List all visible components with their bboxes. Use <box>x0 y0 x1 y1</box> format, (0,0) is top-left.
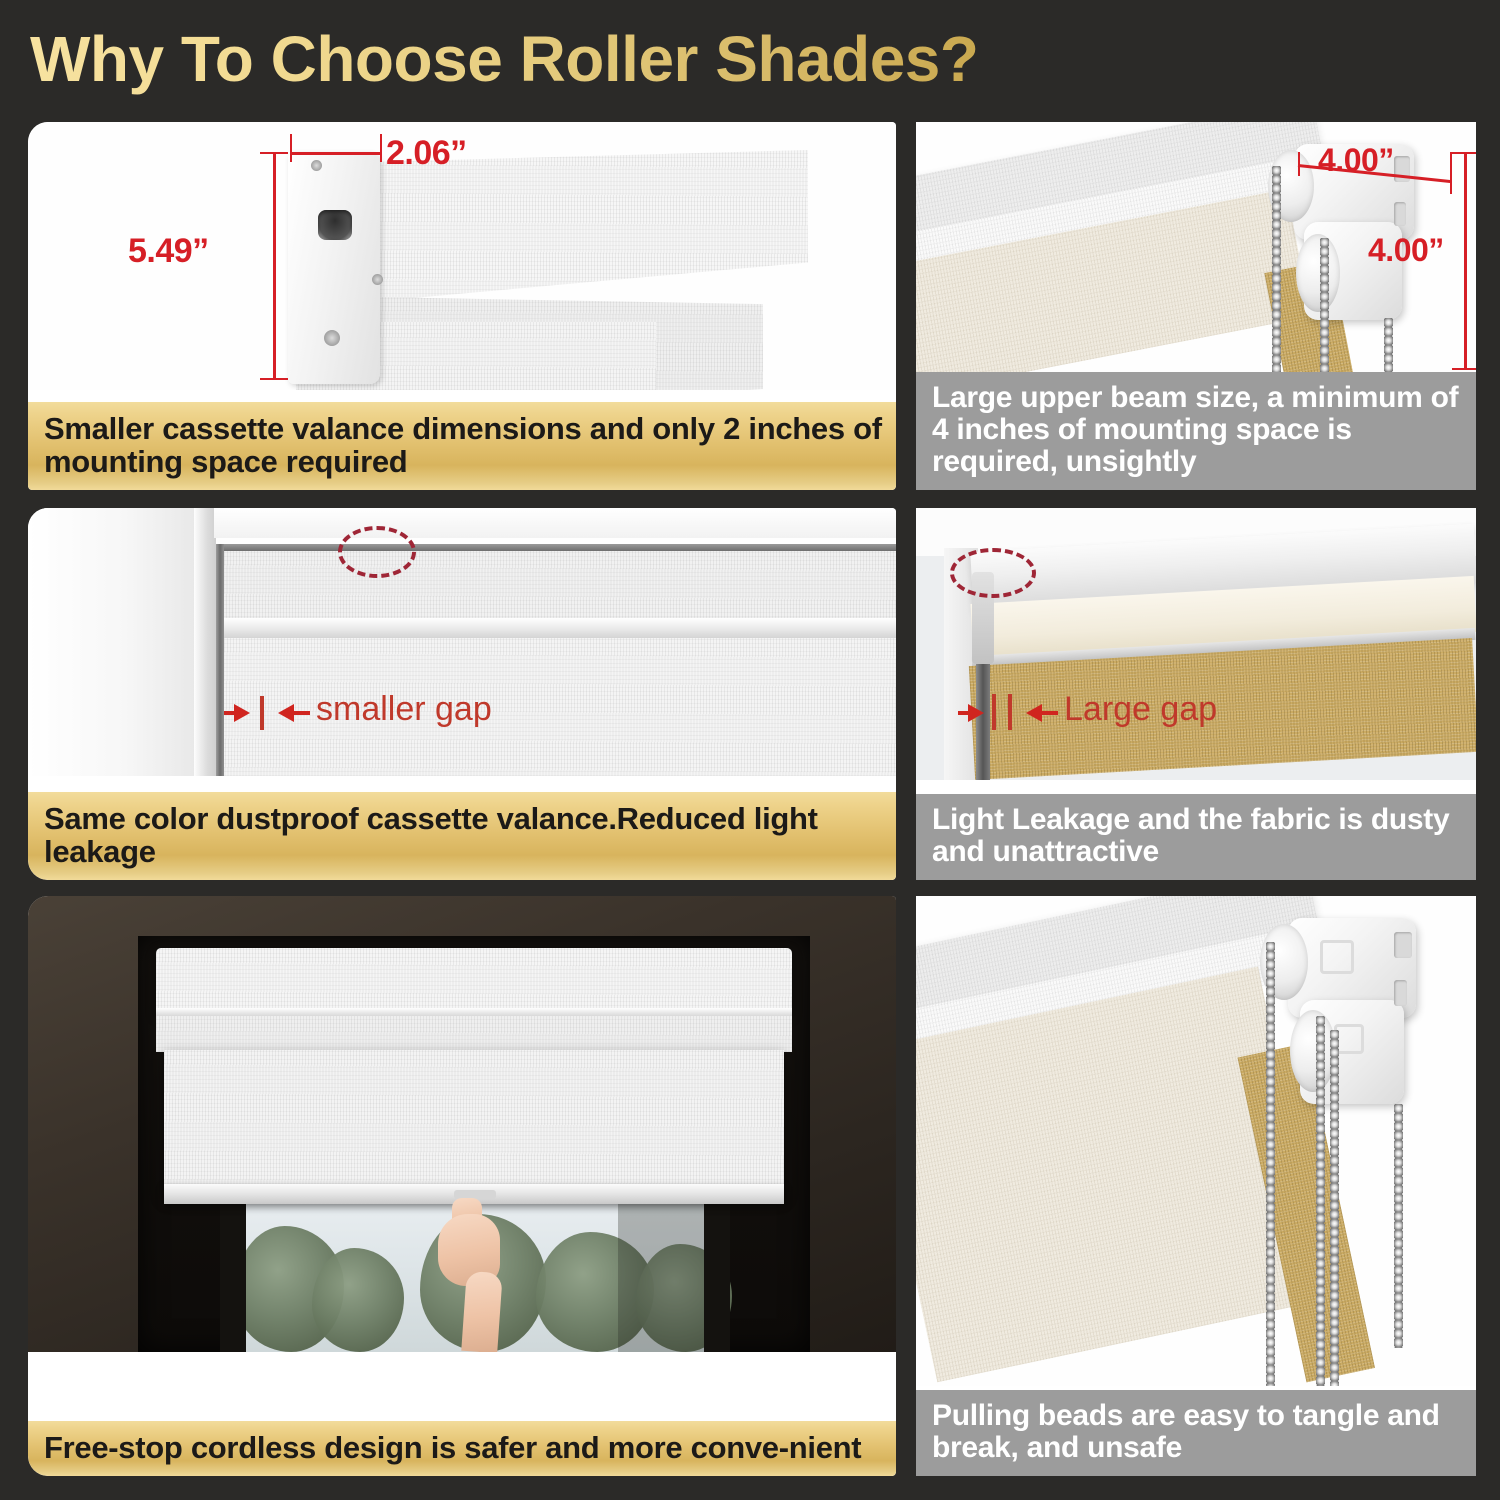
panel-dustproof-valance: smaller gap Same color dustproof cassett… <box>28 508 896 880</box>
screw-mid-icon <box>372 274 383 285</box>
valance-fabric-upper <box>224 551 896 621</box>
gap-label-smaller: smaller gap <box>316 690 492 729</box>
panel-4-caption: Light Leakage and the fabric is dusty an… <box>916 794 1476 880</box>
gap-marker <box>260 696 264 730</box>
dimension-label-height-2: 4.00” <box>1368 232 1444 269</box>
cassette-head <box>156 948 792 1014</box>
leak-highlight-circle <box>950 548 1036 598</box>
panel-smaller-cassette: 2.06” 5.49” Smaller cassette valance dim… <box>28 122 896 490</box>
gap-arrow-right <box>278 704 294 722</box>
page-title: Why To Choose Roller Shades? <box>30 22 1130 97</box>
panel-light-leakage: Large gap Light Leakage and the fabric i… <box>916 508 1476 880</box>
bead-chain-1[interactable] <box>1266 942 1275 1386</box>
bead-chain-2[interactable] <box>1316 1016 1325 1386</box>
panel-1-caption: Smaller cassette valance dimensions and … <box>28 402 896 490</box>
bead-chain-4[interactable] <box>1394 1104 1403 1348</box>
panel-2-caption: Large upper beam size, a minimum of 4 in… <box>916 372 1476 490</box>
bead-chain-front[interactable] <box>1272 166 1281 394</box>
panel-3-image: smaller gap <box>28 508 896 776</box>
infographic-root: Why To Choose Roller Shades? 2.06” <box>0 0 1500 1500</box>
roller-end-cap-lower <box>1296 234 1340 312</box>
panel-4-image: Large gap <box>916 508 1476 780</box>
panel-cordless-design: Free-stop cordless design is safer and m… <box>28 896 896 1476</box>
cassette-head-lower <box>156 1016 792 1052</box>
panel-pulling-beads: Pulling beads are easy to tangle and bre… <box>916 896 1476 1476</box>
panel-6-image <box>916 896 1476 1386</box>
cassette-end-cap <box>288 152 380 384</box>
dimension-label-height: 5.49” <box>128 232 209 271</box>
panel-1-image: 2.06” 5.49” <box>28 122 896 390</box>
largegap-arrow-right <box>1026 704 1042 722</box>
panel-6-caption: Pulling beads are easy to tangle and bre… <box>916 1390 1476 1476</box>
gap-arrow-left <box>234 704 250 722</box>
screw-bottom-icon <box>324 330 340 346</box>
panel-2-image: 4.00” 4.00” <box>916 122 1476 394</box>
panel-large-beam: 4.00” 4.00” Large upper beam size, a min… <box>916 122 1476 490</box>
cord-slot-icon <box>318 210 352 240</box>
roller-shade-fabric <box>164 1050 784 1196</box>
panel-5-image <box>28 896 896 1352</box>
dimension-label-width: 2.06” <box>386 134 467 173</box>
gap-label-large: Large gap <box>1064 690 1217 729</box>
bead-chain-3[interactable] <box>1330 1030 1339 1386</box>
largegap-marker-a <box>992 694 996 730</box>
panel-3-caption: Same color dustproof cassette valance.Re… <box>28 792 896 880</box>
largegap-marker-b <box>1008 694 1012 730</box>
largegap-arrow-left <box>968 704 984 722</box>
dimension-label-width-2: 4.00” <box>1318 142 1394 179</box>
detail-highlight-circle <box>338 526 416 578</box>
bead-chain-back[interactable] <box>1320 238 1329 394</box>
screw-top-icon <box>311 160 322 171</box>
panel-5-caption: Free-stop cordless design is safer and m… <box>28 1421 896 1476</box>
